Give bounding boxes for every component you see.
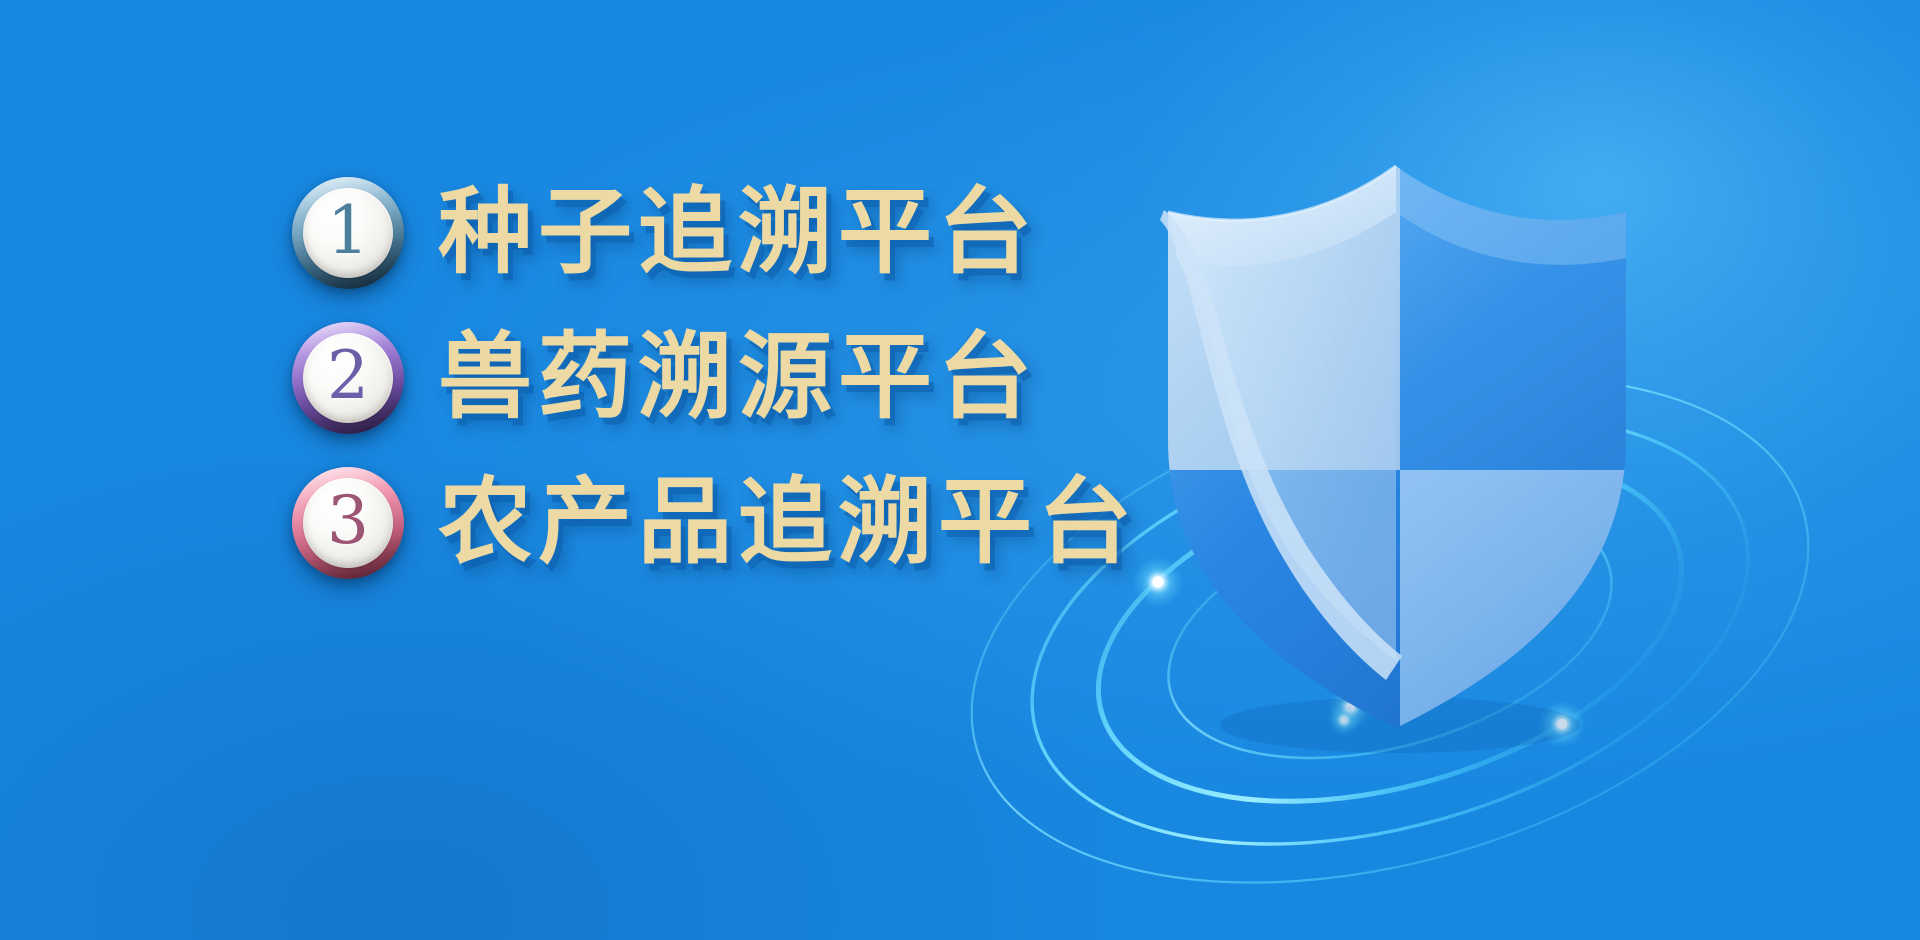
platform-list: 1 种子追溯平台 2 兽药溯源平台 3 农产品追溯平台 bbox=[292, 160, 1232, 595]
badge-number-3: 3 bbox=[292, 467, 404, 579]
badge-number-1: 1 bbox=[292, 177, 404, 289]
platform-label: 兽药溯源平台 bbox=[438, 331, 1038, 425]
badge-number-label: 3 bbox=[327, 488, 369, 554]
list-item[interactable]: 3 农产品追溯平台 bbox=[292, 450, 1232, 595]
banner-canvas: 1 种子追溯平台 2 兽药溯源平台 3 农产品追溯平台 bbox=[0, 0, 1920, 940]
badge-number-2: 2 bbox=[292, 322, 404, 434]
list-item[interactable]: 2 兽药溯源平台 bbox=[292, 305, 1232, 450]
list-item[interactable]: 1 种子追溯平台 bbox=[292, 160, 1232, 305]
badge-number-label: 2 bbox=[327, 343, 369, 409]
platform-label: 种子追溯平台 bbox=[438, 186, 1038, 280]
badge-number-label: 1 bbox=[327, 198, 369, 264]
platform-label: 农产品追溯平台 bbox=[438, 476, 1138, 570]
